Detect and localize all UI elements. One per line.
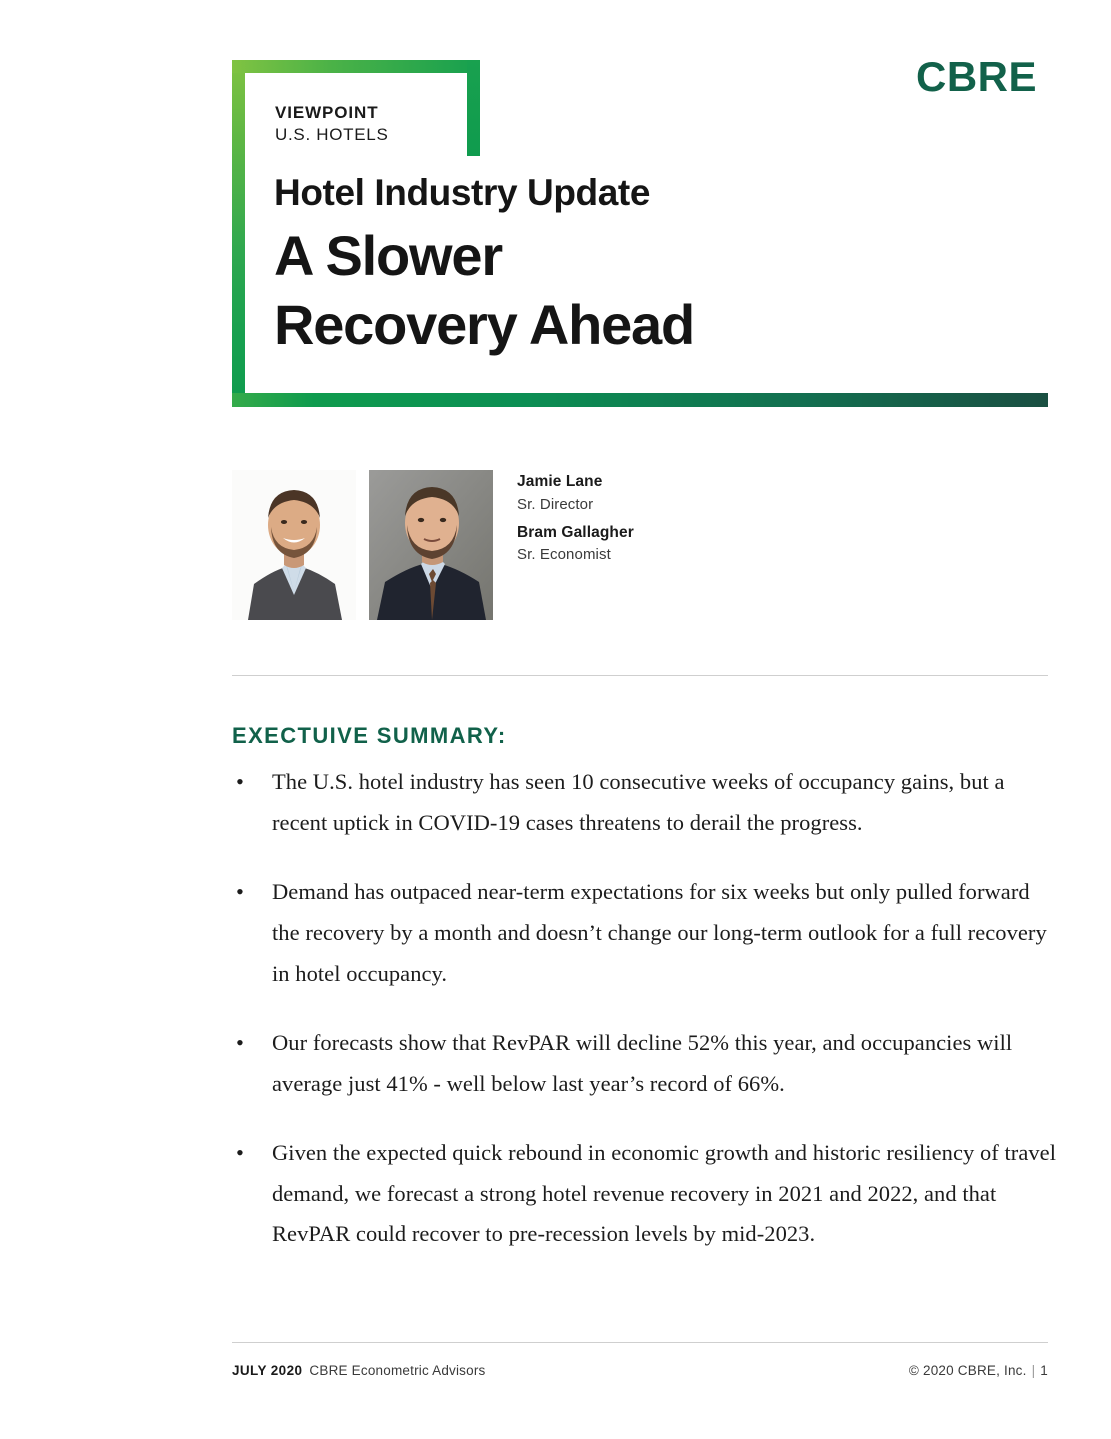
list-item-text: Given the expected quick rebound in econ… xyxy=(272,1140,1056,1247)
footer-date: JULY 2020 xyxy=(232,1363,302,1378)
footer-divider xyxy=(232,1342,1048,1343)
avatar-jamie-lane xyxy=(232,470,356,620)
list-item: • Demand has outpaced near-term expectat… xyxy=(232,872,1062,995)
list-item-text: The U.S. hotel industry has seen 10 cons… xyxy=(272,769,1005,835)
bracket-top-bar xyxy=(232,60,480,73)
author-credits: Jamie Lane Sr. Director Bram Gallagher S… xyxy=(517,474,634,562)
list-item-text: Our forecasts show that RevPAR will decl… xyxy=(272,1030,1012,1096)
section-divider-top xyxy=(232,675,1048,676)
bullet-marker-icon: • xyxy=(236,872,244,913)
headshot-jamie-lane-icon xyxy=(232,470,356,620)
bracket-bottom-bar xyxy=(232,393,1048,407)
footer-publisher: CBRE Econometric Advisors xyxy=(309,1363,485,1378)
footer-right: © 2020 CBRE, Inc.|1 xyxy=(909,1363,1048,1378)
masthead-kicker: VIEWPOINT U.S. HOTELS xyxy=(275,102,389,146)
list-item-text: Demand has outpaced near-term expectatio… xyxy=(272,879,1047,986)
kicker-sector: U.S. HOTELS xyxy=(275,124,389,146)
footer-left: JULY 2020CBRE Econometric Advisors xyxy=(232,1363,485,1378)
author-role-2: Sr. Economist xyxy=(517,547,634,562)
executive-summary-list: • The U.S. hotel industry has seen 10 co… xyxy=(232,762,1062,1255)
list-item: • Our forecasts show that RevPAR will de… xyxy=(232,1023,1062,1105)
list-item: • The U.S. hotel industry has seen 10 co… xyxy=(232,762,1062,844)
author-block: Jamie Lane Sr. Director Bram Gallagher S… xyxy=(232,470,1048,626)
footer-copyright: © 2020 CBRE, Inc. xyxy=(909,1363,1027,1378)
footer-separator: | xyxy=(1032,1363,1036,1378)
bullet-marker-icon: • xyxy=(236,1133,244,1174)
bullet-marker-icon: • xyxy=(236,1023,244,1064)
author-name-1: Jamie Lane xyxy=(517,474,634,490)
avatar-bram-gallagher xyxy=(369,470,493,620)
author-name-2: Bram Gallagher xyxy=(517,525,634,541)
bracket-left-bar xyxy=(232,60,245,407)
bracket-right-stub xyxy=(467,60,480,156)
executive-summary-heading: EXECTUIVE SUMMARY: xyxy=(232,723,507,749)
page-title: Hotel Industry Update A Slower Recovery … xyxy=(274,172,694,359)
title-main-line-1: A Slower xyxy=(274,221,694,290)
title-main-line-2: Recovery Ahead xyxy=(274,290,694,359)
bullet-marker-icon: • xyxy=(236,762,244,803)
kicker-viewpoint: VIEWPOINT xyxy=(275,102,389,124)
masthead-bracket-frame: VIEWPOINT U.S. HOTELS Hotel Industry Upd… xyxy=(232,60,1048,407)
list-item: • Given the expected quick rebound in ec… xyxy=(232,1133,1062,1256)
author-role-1: Sr. Director xyxy=(517,497,634,512)
title-subhead: Hotel Industry Update xyxy=(274,172,694,215)
footer-page-number: 1 xyxy=(1040,1363,1048,1378)
headshot-bram-gallagher-icon xyxy=(369,470,493,620)
